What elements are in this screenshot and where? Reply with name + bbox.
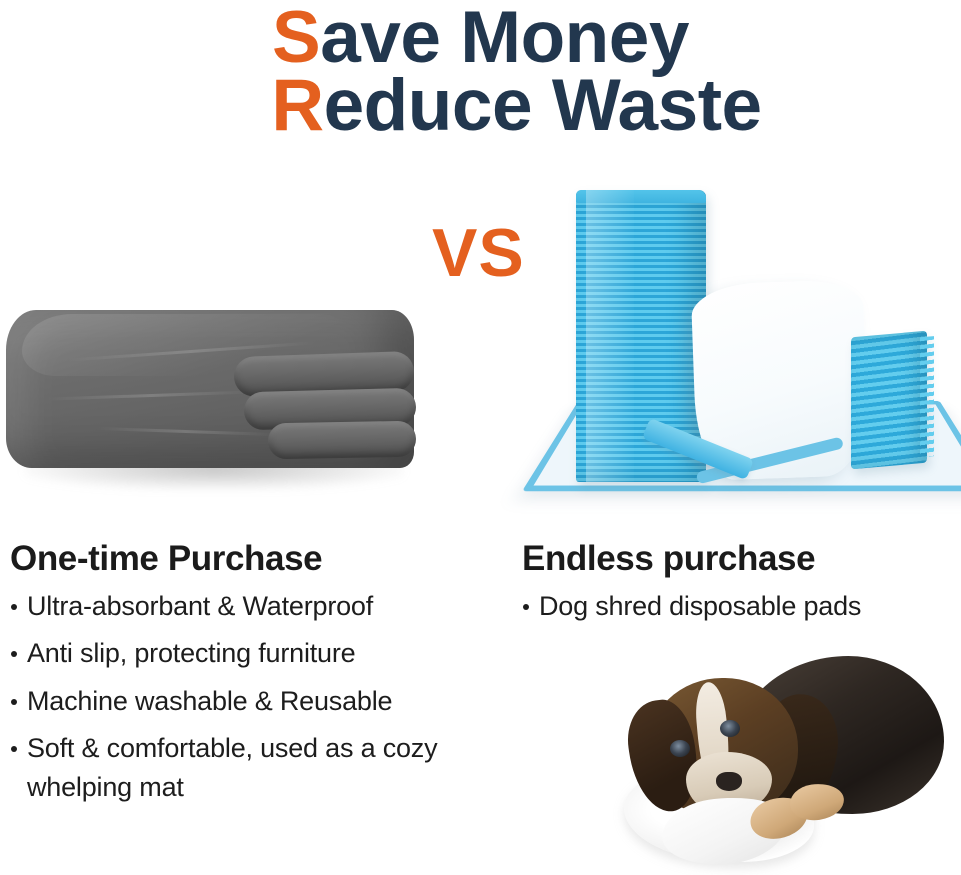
- headline: Save Money Reduce Waste: [0, 2, 961, 141]
- headline-line-1: Save Money: [0, 2, 961, 74]
- blanket-body: [6, 310, 414, 468]
- versus-label: VS: [432, 219, 525, 287]
- list-item: Machine washable & Reusable: [10, 682, 490, 721]
- blanket-crease: [46, 390, 256, 400]
- puppy-nose: [716, 772, 742, 791]
- headline-line-2: Reduce Waste: [0, 70, 961, 142]
- stack-ragged-edges: [920, 336, 934, 457]
- pee-pads-product-image: [548, 186, 958, 511]
- left-benefit-list: Ultra-absorbant & Waterproof Anti slip, …: [10, 587, 490, 808]
- right-comparison-column: Endless purchase Dog shred disposable pa…: [522, 540, 952, 634]
- blanket-crease: [96, 427, 276, 436]
- list-item: Dog shred disposable pads: [522, 587, 952, 626]
- puppy-eye-left: [670, 740, 690, 757]
- stack-highlight: [586, 190, 634, 482]
- headline-initial-r: R: [271, 65, 323, 146]
- blanket-fold-roll: [268, 421, 417, 460]
- list-item: Anti slip, protecting furniture: [10, 634, 490, 673]
- puppy-eye-right: [720, 720, 740, 737]
- headline-line-2-rest: educe Waste: [324, 65, 762, 146]
- right-drawback-list: Dog shred disposable pads: [522, 587, 952, 626]
- list-item: Ultra-absorbant & Waterproof: [10, 587, 490, 626]
- blanket-product-image: [6, 296, 426, 511]
- list-item: Soft & comfortable, used as a cozy whelp…: [10, 729, 490, 808]
- left-comparison-column: One-time Purchase Ultra-absorbant & Wate…: [10, 540, 490, 816]
- right-column-heading: Endless purchase: [522, 540, 952, 578]
- short-pad-stack: [851, 331, 927, 470]
- left-column-heading: One-time Purchase: [10, 540, 490, 578]
- puppy-photo: [624, 648, 954, 870]
- infographic-page: Save Money Reduce Waste VS: [0, 0, 961, 875]
